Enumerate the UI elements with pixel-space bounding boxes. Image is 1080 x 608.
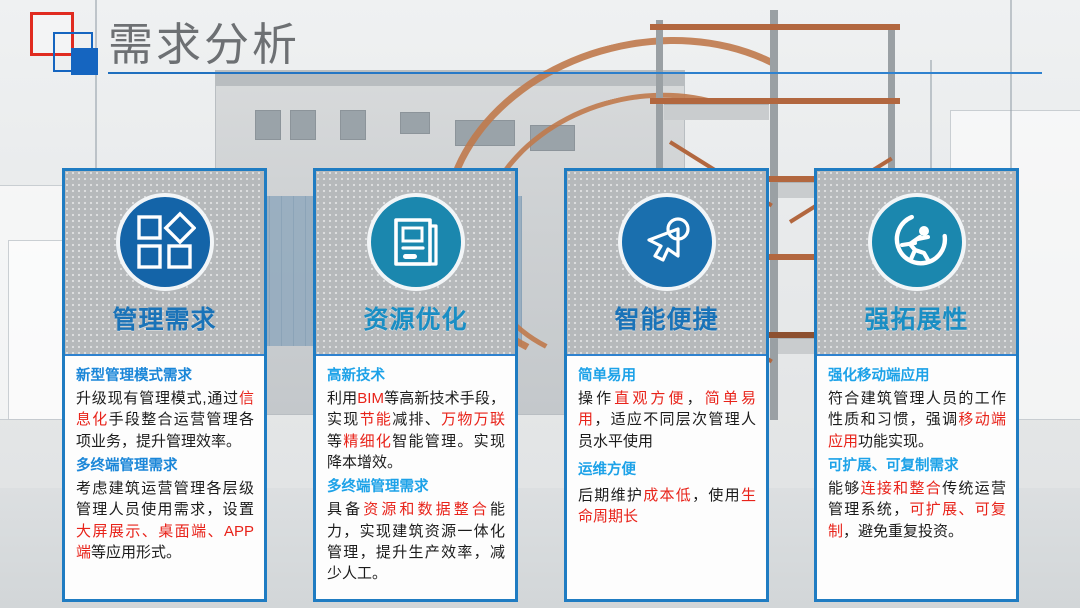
section-heading: 简单易用: [578, 367, 756, 385]
card-body: 新型管理模式需求 升级现有管理模式,通过信息化手段整合运营管理各项业务，提升管理…: [65, 356, 264, 599]
card-body: 高新技术 利用BIM等高新技术手段，实现节能减排、万物万联等精细化智能管理。实现…: [316, 356, 515, 599]
section-heading: 运维方便: [578, 461, 756, 479]
card-header: 智能便捷: [567, 171, 766, 356]
building-window: [255, 110, 281, 140]
body-text: 等应用形式。: [91, 544, 181, 561]
icon-badge: [618, 193, 716, 291]
body-text: 功能实现。: [858, 433, 933, 450]
body-text: 减排、: [392, 411, 441, 428]
section-paragraph: 操作直观方便，简单易用，适应不同层次管理人员水平使用: [578, 388, 756, 452]
body-text: 能够: [828, 480, 861, 497]
building-window: [340, 110, 366, 140]
body-text: 操作: [578, 390, 614, 407]
card-management-needs[interactable]: 管理需求 新型管理模式需求 升级现有管理模式,通过信息化手段整合运营管理各项业务…: [62, 168, 267, 602]
icon-badge: [367, 193, 465, 291]
highlighted-text: 资源和数据整合: [363, 501, 490, 518]
document-page-icon: [386, 212, 446, 272]
body-text: 利用: [327, 390, 357, 407]
card-header: 资源优化: [316, 171, 515, 356]
body-text: 具备: [327, 501, 363, 518]
logo-blue-filled-square-icon: [71, 48, 98, 75]
highlighted-text: BIM: [357, 390, 384, 407]
card-title: 强拓展性: [864, 300, 968, 336]
highlighted-text: 直观方便: [614, 390, 686, 407]
section-paragraph: 利用BIM等高新技术手段，实现节能减排、万物万联等精细化智能管理。实现降本增效。: [327, 388, 505, 473]
section-heading: 强化移动端应用: [828, 367, 1006, 385]
frame-slab: [664, 104, 769, 120]
card-header: 强拓展性: [817, 171, 1016, 356]
highlighted-text: 连接和整合: [861, 480, 942, 497]
page-title: 需求分析: [108, 8, 300, 73]
apps-squares-diamond-icon: [134, 211, 196, 273]
icon-badge: [868, 193, 966, 291]
card-title: 管理需求: [112, 300, 216, 336]
header-underline: [108, 72, 1042, 74]
body-text: 考虑建筑运营管理各层级管理人员使用需求，设置: [76, 480, 254, 518]
section-paragraph: 具备资源和数据整合能力，实现建筑资源一体化管理，提升生产效率，减少人工。: [327, 499, 505, 584]
card-body: 简单易用 操作直观方便，简单易用，适应不同层次管理人员水平使用 运维方便 后期维…: [567, 356, 766, 599]
building-window: [400, 112, 430, 134]
section-paragraph: 符合建筑管理人员的工作性质和习惯，强调移动端应用功能实现。: [828, 388, 1006, 452]
running-person-circle-icon: [886, 211, 948, 273]
card-smart-convenient[interactable]: 智能便捷 简单易用 操作直观方便，简单易用，适应不同层次管理人员水平使用 运维方…: [564, 168, 769, 602]
section-heading: 新型管理模式需求: [76, 367, 254, 385]
section-paragraph: 升级现有管理模式,通过信息化手段整合运营管理各项业务，提升管理效率。: [76, 388, 254, 452]
body-text: ，适应不同层次管理人员水平使用: [578, 411, 756, 449]
card-title: 智能便捷: [614, 300, 718, 336]
card-strong-extensibility[interactable]: 强拓展性 强化移动端应用 符合建筑管理人员的工作性质和习惯，强调移动端应用功能实…: [814, 168, 1019, 602]
section-paragraph: 考虑建筑运营管理各层级管理人员使用需求，设置大屏展示、桌面端、APP端等应用形式…: [76, 478, 254, 563]
building-window: [290, 110, 316, 140]
body-text: 升级现有管理模式,通过: [76, 390, 239, 407]
section-paragraph: 能够连接和整合传统运营管理系统，可扩展、可复制，避免重复投资。: [828, 478, 1006, 542]
body-text: 等: [327, 433, 343, 450]
highlighted-text: 成本低: [643, 487, 692, 504]
card-title: 资源优化: [363, 300, 467, 336]
highlighted-text: 精细化: [343, 433, 392, 450]
highlighted-text: 节能: [360, 411, 393, 428]
slide-header: 需求分析: [0, 0, 1080, 86]
card-resource-optimization[interactable]: 资源优化 高新技术 利用BIM等高新技术手段，实现节能减排、万物万联等精细化智能…: [313, 168, 518, 602]
section-heading: 多终端管理需求: [327, 478, 505, 496]
section-heading: 可扩展、可复制需求: [828, 457, 1006, 475]
brand-squares-logo: [27, 10, 99, 72]
card-header: 管理需求: [65, 171, 264, 356]
cursor-pointer-touch-icon: [637, 212, 697, 272]
body-text: 后期维护: [578, 487, 643, 504]
section-heading: 高新技术: [327, 367, 505, 385]
highlighted-text: 万物万联: [441, 411, 505, 428]
body-text: ，: [687, 390, 705, 407]
body-text: ，避免重复投资。: [843, 523, 963, 540]
section-heading: 多终端管理需求: [76, 457, 254, 475]
icon-badge: [116, 193, 214, 291]
body-text: ，使用: [692, 487, 741, 504]
card-body: 强化移动端应用 符合建筑管理人员的工作性质和习惯，强调移动端应用功能实现。 可扩…: [817, 356, 1016, 599]
section-paragraph: 后期维护成本低，使用生命周期长: [578, 485, 756, 528]
